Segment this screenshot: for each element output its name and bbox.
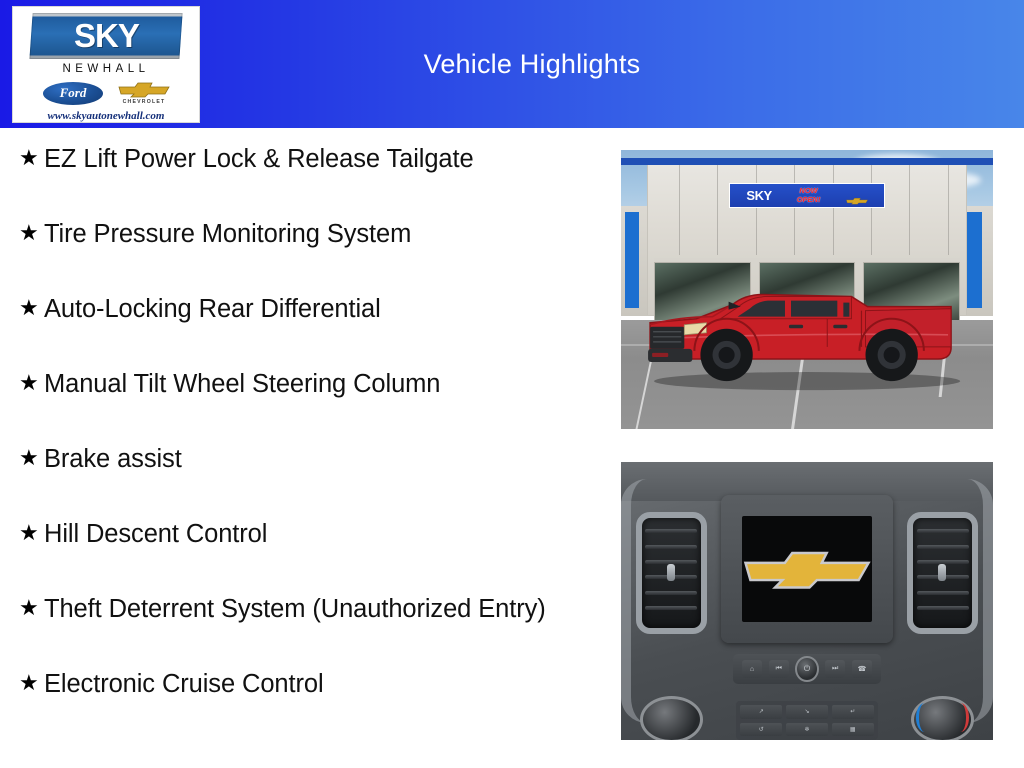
list-item-label: Theft Deterrent System (Unauthorized Ent… — [44, 592, 546, 626]
temperature-dial[interactable] — [911, 696, 974, 740]
list-item: ★ EZ Lift Power Lock & Release Tailgate — [10, 142, 610, 184]
sky-brand-text: SKY — [74, 17, 139, 55]
truck-illustration — [636, 245, 978, 398]
chevrolet-bowtie-icon — [118, 81, 170, 98]
ford-logo-icon: Ford — [42, 81, 104, 106]
dealer-website-text: www.skyautonewhall.com — [48, 110, 165, 122]
airflow-face-icon[interactable]: ↗ — [740, 705, 782, 718]
previous-track-icon[interactable]: ⏮ — [769, 660, 790, 678]
highlights-list: ★ EZ Lift Power Lock & Release Tailgate … — [10, 142, 610, 742]
cold-arc-indicator — [916, 703, 933, 732]
infotainment-button-strip: ⌂ ⏮ ⏻ ⏭ ☎ — [733, 654, 882, 685]
infotainment-screen[interactable] — [742, 516, 872, 622]
next-track-icon[interactable]: ⏭ — [825, 660, 846, 678]
vent-adjust-knob[interactable] — [667, 564, 675, 581]
air-vent-left-icon — [636, 512, 707, 634]
star-bullet-icon: ★ — [10, 142, 44, 174]
vent-adjust-knob[interactable] — [938, 564, 946, 581]
climate-button-grid: ↗ ↘ ↵ ↺ ❄ ▦ — [736, 701, 877, 740]
star-bullet-icon: ★ — [10, 292, 44, 324]
star-bullet-icon: ★ — [10, 217, 44, 249]
list-item: ★ Manual Tilt Wheel Steering Column — [10, 367, 610, 409]
phone-icon[interactable]: ☎ — [852, 660, 873, 678]
dealership-banner: SKY NOWOPEN! — [729, 183, 885, 208]
list-item-label: Auto-Locking Rear Differential — [44, 292, 381, 326]
list-item-label: Electronic Cruise Control — [44, 667, 324, 701]
home-icon[interactable]: ⌂ — [742, 660, 763, 678]
vehicle-interior-photo: ⌂ ⏮ ⏻ ⏭ ☎ ↗ ↘ ↵ ↺ ❄ ▦ — [621, 462, 993, 740]
vehicle-highlights-slide: Vehicle Highlights SKY NEWHALL Ford CHEV… — [0, 0, 1024, 768]
banner-sky-text: SKY — [746, 188, 771, 203]
fan-speed-dial[interactable] — [640, 696, 703, 740]
vehicle-exterior-photo: SKY NOWOPEN! — [621, 150, 993, 429]
ac-icon[interactable]: ❄ — [786, 723, 828, 736]
sky-brand-badge: SKY — [29, 13, 182, 59]
star-bullet-icon: ★ — [10, 442, 44, 474]
air-vent-right-icon — [907, 512, 978, 634]
airflow-feet-icon[interactable]: ↘ — [786, 705, 828, 718]
airflow-defrost-icon[interactable]: ↵ — [832, 705, 874, 718]
hot-arc-indicator — [952, 703, 969, 732]
ford-logo-text: Ford — [60, 85, 87, 101]
list-item-label: Manual Tilt Wheel Steering Column — [44, 367, 440, 401]
list-item: ★ Brake assist — [10, 442, 610, 484]
list-item-label: Tire Pressure Monitoring System — [44, 217, 411, 251]
infotainment-bezel — [721, 495, 892, 642]
list-item: ★ Auto-Locking Rear Differential — [10, 292, 610, 334]
list-item: ★ Electronic Cruise Control — [10, 667, 610, 709]
dealer-logo: SKY NEWHALL Ford CHEVROLET www.skyautone… — [12, 6, 200, 123]
list-item-label: Brake assist — [44, 442, 182, 476]
chevrolet-logo-icon: CHEVROLET — [118, 81, 170, 105]
list-item: ★ Tire Pressure Monitoring System — [10, 217, 610, 259]
power-volume-knob[interactable]: ⏻ — [795, 656, 818, 682]
chevrolet-logo-text: CHEVROLET — [123, 99, 166, 105]
dealer-location-text: NEWHALL — [62, 63, 149, 75]
facade-panel-lines — [647, 165, 967, 255]
star-bullet-icon: ★ — [10, 367, 44, 399]
chevrolet-bowtie-icon — [743, 548, 871, 590]
banner-now-open-text: NOWOPEN! — [797, 187, 821, 204]
banner-chevrolet-bowtie-icon — [846, 192, 868, 200]
list-item: ★ Theft Deterrent System (Unauthorized E… — [10, 592, 610, 634]
star-bullet-icon: ★ — [10, 592, 44, 624]
building-roofline — [621, 158, 993, 165]
star-bullet-icon: ★ — [10, 517, 44, 549]
recirculation-icon[interactable]: ↺ — [740, 723, 782, 736]
list-item-label: EZ Lift Power Lock & Release Tailgate — [44, 142, 474, 176]
rear-defrost-icon[interactable]: ▦ — [832, 723, 874, 736]
list-item-label: Hill Descent Control — [44, 517, 267, 551]
dealership-scene: SKY NOWOPEN! — [621, 150, 993, 429]
franchise-row: Ford CHEVROLET — [13, 77, 199, 109]
star-bullet-icon: ★ — [10, 667, 44, 699]
list-item: ★ Hill Descent Control — [10, 517, 610, 559]
